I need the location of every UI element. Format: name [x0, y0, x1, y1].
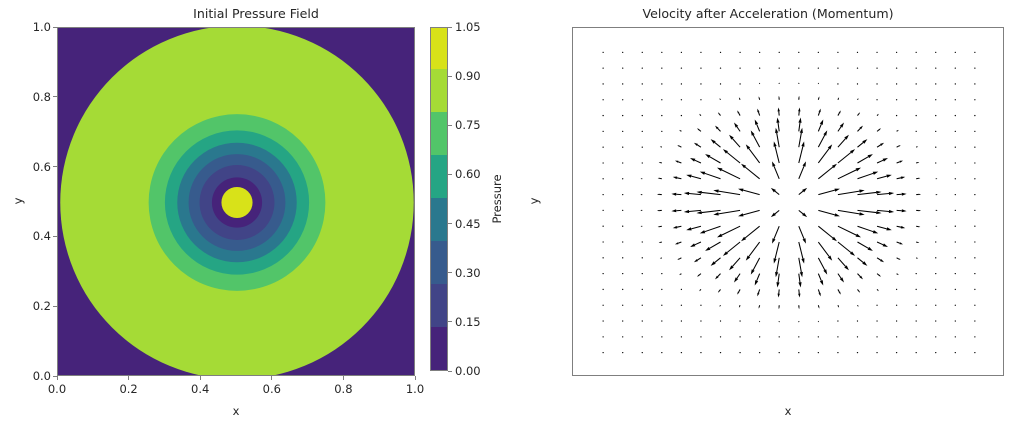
quiver-arrow-shaft: [679, 146, 681, 147]
quiver-arrow-dot: [818, 67, 819, 68]
quiver-arrow-dot: [916, 289, 917, 290]
quiver-arrow-shaft: [689, 210, 701, 211]
quiver-arrow-head: [775, 128, 778, 133]
quiver-arrow-shaft: [719, 289, 720, 291]
quiver-arrow-shaft: [857, 114, 858, 116]
quiver-arrow-head: [640, 210, 641, 211]
quiver-arrow-head: [856, 234, 861, 238]
quiver-arrow-dot: [916, 352, 917, 353]
quiver-arrow-shaft: [897, 162, 900, 163]
quiver-arrow-shaft: [877, 130, 879, 132]
quiver-arrow-dot: [622, 226, 623, 227]
quiver-arrow-dot: [896, 83, 897, 84]
quiver-arrow-shaft: [759, 98, 760, 100]
quiver-arrow-shaft: [774, 226, 779, 239]
quiver-arrow-head: [886, 227, 891, 230]
quiver-arrow-head: [820, 280, 823, 285]
quiver-arrow-dot: [818, 352, 819, 353]
quiver-arrow-dot: [622, 241, 623, 242]
quiver-arrow-dot: [974, 131, 975, 132]
quiver-arrow-head: [902, 209, 907, 212]
quiver-arrow-shaft: [778, 123, 779, 132]
quiver-arrow-dot: [857, 67, 858, 68]
quiver-arrow-shaft: [799, 258, 802, 272]
quiver-arrow-dot: [896, 352, 897, 353]
quiver-arrow-head: [696, 211, 701, 214]
quiver-arrow-dot: [661, 320, 662, 321]
quiver-arrow-shaft: [838, 305, 839, 306]
quiver-arrow-dot: [837, 336, 838, 337]
quiver-arrow-head: [889, 210, 894, 213]
quiver-arrow-shaft: [838, 289, 840, 292]
quiver-arrow-shaft: [838, 139, 846, 148]
quiver-arrow-shaft: [877, 242, 883, 245]
right-plot-area: [572, 27, 1004, 376]
colorbar-tick-label: 0.90: [455, 69, 481, 83]
quiver-arrow-head: [834, 189, 839, 192]
quiver-arrow-shaft: [877, 210, 889, 211]
quiver-arrow-shaft: [857, 192, 876, 194]
quiver-arrow-head: [759, 96, 760, 98]
quiver-arrow-head: [937, 178, 938, 179]
quiver-arrow-dot: [955, 273, 956, 274]
panel-velocity-after-acceleration: Velocity after Acceleration (Momentum) 0…: [512, 0, 1024, 427]
quiver-arrow-dot: [661, 336, 662, 337]
quiver-arrow-dot: [974, 83, 975, 84]
quiver-arrow-dot: [661, 273, 662, 274]
quiver-arrow-dot: [661, 305, 662, 306]
colorbar-band: [431, 27, 447, 69]
quiver-arrow-dot: [876, 320, 877, 321]
quiver-arrow-dot: [876, 67, 877, 68]
quiver-arrow-dot: [974, 241, 975, 242]
quiver-arrow-shaft: [897, 131, 898, 132]
quiver-arrow-dot: [896, 336, 897, 337]
quiver-arrow-dot: [857, 83, 858, 84]
quiver-arrow-head: [776, 282, 779, 287]
quiver-arrow-dot: [935, 115, 936, 116]
quiver-arrow-shaft: [710, 242, 721, 248]
quiver-arrow-dot: [876, 352, 877, 353]
quiver-arrow-head: [868, 247, 873, 251]
quiver-arrow-head: [751, 130, 755, 135]
quiver-arrow-shaft: [775, 210, 779, 214]
quiver-arrow-dot: [602, 210, 603, 211]
quiver-arrow-head: [859, 212, 864, 215]
quiver-arrow-shaft: [897, 178, 901, 179]
quiver-arrow-dot: [700, 305, 701, 306]
quiver-arrow-dot: [739, 320, 740, 321]
quiver-arrow-dot: [622, 178, 623, 179]
quiver-arrow-dot: [622, 147, 623, 148]
quiver-arrow-shaft: [718, 128, 721, 131]
colorbar-band: [431, 69, 447, 112]
colorbar-tick-label: 0.60: [455, 167, 481, 181]
quiver-arrow-shaft: [759, 305, 760, 307]
quiver-arrow-dot: [622, 83, 623, 84]
quiver-arrow-head: [798, 96, 799, 98]
quiver-arrow-shaft: [818, 98, 819, 100]
quiver-arrow-dot: [661, 352, 662, 353]
quiver-arrow-group: [602, 52, 975, 354]
quiver-arrow-shaft: [689, 194, 701, 195]
quiver-arrow-head: [772, 238, 775, 243]
quiver-arrow-dot: [935, 52, 936, 53]
quiver-arrow-head: [772, 161, 775, 166]
quiver-arrow-dot: [622, 67, 623, 68]
quiver-arrow-head: [713, 190, 718, 193]
quiver-arrow-dot: [896, 52, 897, 53]
quiver-arrow-dot: [759, 352, 760, 353]
quiver-arrow-head: [778, 293, 780, 297]
quiver-arrow-shaft: [818, 226, 833, 238]
quiver-arrow-shaft: [715, 258, 721, 263]
quiver-arrow-dot: [642, 257, 643, 258]
quiver-arrow-dot: [955, 305, 956, 306]
quiver-arrow-head: [834, 213, 839, 216]
quiver-arrow-dot: [955, 52, 956, 53]
quiver-arrow-shaft: [702, 210, 721, 212]
quiver-arrow-head: [801, 258, 804, 263]
quiver-arrow-dot: [935, 83, 936, 84]
quiver-arrow-dot: [974, 289, 975, 290]
quiver-arrow-dot: [700, 336, 701, 337]
quiver-arrow-shaft: [818, 112, 819, 116]
quiver-arrow-shaft: [691, 176, 701, 179]
quiver-arrow-dot: [955, 352, 956, 353]
quiver-arrow-shaft: [838, 258, 846, 267]
quiver-arrow-dot: [642, 115, 643, 116]
quiver-arrow-dot: [622, 194, 623, 195]
quiver-arrow-head: [803, 238, 806, 243]
quiver-arrow-dot: [955, 320, 956, 321]
quiver-arrow-dot: [896, 289, 897, 290]
quiver-arrow-shaft: [739, 289, 741, 292]
quiver-arrow-head: [690, 243, 695, 247]
quiver-arrow-head: [803, 161, 806, 166]
quiver-arrow-head: [798, 293, 800, 297]
quiver-arrow-dot: [896, 320, 897, 321]
right-xaxis-label: x: [785, 404, 792, 418]
quiver-arrow-shaft: [737, 127, 740, 132]
quiver-arrow-dot: [837, 83, 838, 84]
quiver-arrow-dot: [622, 162, 623, 163]
colorbar-tick-label: 0.75: [455, 118, 481, 132]
quiver-arrow-shaft: [718, 274, 721, 277]
quiver-arrow-head: [819, 109, 821, 113]
quiver-arrow-dot: [955, 210, 956, 211]
quiver-arrow-head: [919, 210, 921, 211]
quiver-arrow-shaft: [838, 191, 860, 194]
quiver-arrow-dot: [602, 67, 603, 68]
quiver-arrow-shaft: [799, 274, 800, 283]
quiver-arrow-dot: [876, 336, 877, 337]
quiver-arrow-shaft: [680, 131, 681, 132]
quiver-arrow-shaft: [777, 258, 780, 272]
quiver-arrow-head: [918, 242, 920, 243]
quiver-arrow-dot: [681, 115, 682, 116]
quiver-arrow-shaft: [680, 274, 681, 275]
colorbar-band: [431, 112, 447, 155]
colorbar-band: [431, 284, 447, 327]
quiver-arrow-dot: [955, 83, 956, 84]
quiver-arrow-shaft: [733, 258, 741, 267]
quiver-arrow-dot: [642, 99, 643, 100]
quiver-arrow-shaft: [777, 133, 780, 147]
quiver-arrow-shaft: [758, 112, 759, 116]
quiver-arrow-shaft: [677, 226, 681, 227]
quiver-arrow-head: [751, 269, 755, 274]
quiver-arrow-shaft: [660, 242, 662, 243]
quiver-arrow-head: [738, 213, 743, 216]
quiver-arrow-dot: [700, 352, 701, 353]
quiver-arrow-shaft: [897, 258, 899, 259]
quiver-arrow-dot: [720, 352, 721, 353]
quiver-arrow-dot: [661, 83, 662, 84]
quiver-arrow-shaft: [838, 226, 856, 235]
quiver-arrow-shaft: [799, 191, 803, 195]
quiver-arrow-dot: [602, 115, 603, 116]
quiver-arrow-dot: [739, 52, 740, 53]
quiver-arrow-head: [937, 226, 938, 227]
quiver-arrow-dot: [622, 210, 623, 211]
quiver-arrow-shaft: [739, 305, 740, 306]
quiver-arrow-dot: [622, 99, 623, 100]
quiver-arrow-shaft: [916, 242, 918, 243]
quiver-arrow-dot: [955, 336, 956, 337]
quiver-arrow-head: [889, 192, 894, 195]
quiver-arrow-head: [778, 108, 780, 112]
quiver-arrow-head: [717, 234, 722, 238]
quiver-arrow-dot: [759, 52, 760, 53]
quiver-arrow-shaft: [678, 242, 681, 243]
quiver-arrow-head: [937, 194, 938, 195]
quiver-arrow-head: [684, 192, 689, 195]
quiver-arrow-shaft: [722, 226, 740, 235]
colorbar-band: [431, 327, 447, 370]
quiver-arrow-shaft: [799, 146, 803, 163]
quiver-arrow-head: [757, 293, 759, 297]
quiver-arrow-shaft: [745, 226, 760, 238]
quiver-arrow-head: [641, 178, 642, 179]
quiver-arrow-head: [657, 210, 659, 211]
quiver-arrow-dot: [916, 67, 917, 68]
quiver-arrow-head: [657, 194, 659, 195]
quiver-arrow-dot: [935, 162, 936, 163]
quiver-arrow-head: [717, 168, 722, 172]
quiver-arrow-shaft: [757, 124, 760, 131]
quiver-arrow-head: [918, 226, 920, 227]
quiver-arrow-shaft: [818, 289, 819, 293]
quiver-arrow-dot: [602, 257, 603, 258]
quiver-arrow-dot: [955, 99, 956, 100]
quiver-arrow-head: [937, 210, 938, 211]
quiver-arrow-dot: [818, 52, 819, 53]
quiver-arrow-shaft: [727, 152, 740, 163]
quiver-arrow-shaft: [697, 145, 701, 147]
quiver-arrow-head: [801, 141, 804, 146]
quiver-arrow-dot: [642, 67, 643, 68]
quiver-arrow-dot: [642, 83, 643, 84]
quiver-arrow-dot: [857, 320, 858, 321]
quiver-arrow-head: [738, 189, 743, 192]
quiver-arrow-dot: [720, 52, 721, 53]
quiver-arrow-dot: [974, 67, 975, 68]
quiver-arrow-shaft: [857, 289, 858, 291]
quiver-arrow-head: [883, 243, 888, 247]
quiver-arrow-dot: [818, 336, 819, 337]
quiver-arrow-dot: [974, 210, 975, 211]
quiver-arrow-shaft: [710, 157, 721, 163]
quiver-arrow-shaft: [702, 192, 721, 194]
quiver-arrow-dot: [935, 336, 936, 337]
quiver-arrow-dot: [798, 336, 799, 337]
quiver-arrow-dot: [661, 67, 662, 68]
quiver-arrow-dot: [974, 178, 975, 179]
quiver-arrow-shaft: [877, 226, 887, 229]
quiver-arrow-dot: [602, 52, 603, 53]
quiver-arrow-shaft: [877, 194, 889, 195]
quiver-arrow-dot: [622, 352, 623, 353]
quiver-arrow-shaft: [818, 135, 824, 147]
quiver-arrow-head: [755, 119, 758, 124]
quiver-arrow-dot: [798, 352, 799, 353]
quiver-arrow-shaft: [877, 115, 878, 116]
quiver-arrow-dot: [916, 305, 917, 306]
quiver-arrow-shaft: [695, 160, 701, 163]
quiver-arrow-dot: [916, 83, 917, 84]
quiver-arrow-dot: [720, 67, 721, 68]
quiver-arrow-head: [876, 211, 881, 214]
quiver-arrow-dot: [916, 115, 917, 116]
quiver-arrow-dot: [974, 273, 975, 274]
quiver-arrow-head: [774, 141, 777, 146]
colorbar-tick-mark: [448, 76, 452, 77]
quiver-arrow-shaft: [838, 98, 839, 99]
quiver-arrow-dot: [602, 320, 603, 321]
colorbar-tick-mark: [448, 321, 452, 322]
quiver-arrow-shaft: [739, 98, 740, 99]
quiver-arrow-head: [774, 258, 777, 263]
quiver-arrow-shaft: [857, 99, 858, 100]
quiver-arrow-dot: [916, 99, 917, 100]
quiver-arrow-dot: [622, 320, 623, 321]
quiver-arrow-dot: [720, 320, 721, 321]
colorbar-tick-label: 0.45: [455, 217, 481, 231]
quiver-arrow-shaft: [818, 124, 821, 131]
quiver-arrow-shaft: [799, 210, 803, 214]
quiver-arrow-dot: [642, 147, 643, 148]
quiver-arrow-head: [901, 177, 905, 180]
quiver-arrow-head: [759, 307, 760, 309]
quiver-arrow-dot: [837, 320, 838, 321]
quiver-arrow-shaft: [838, 152, 851, 163]
quiver-arrow-head: [640, 194, 641, 195]
quiver-arrow-shaft: [715, 142, 721, 147]
quiver-arrow-dot: [916, 131, 917, 132]
quiver-arrow-dot: [974, 115, 975, 116]
colorbar-band: [431, 241, 447, 284]
quiver-arrow-shaft: [700, 115, 701, 116]
quiver-arrow-dot: [916, 273, 917, 274]
quiver-arrow-shaft: [838, 113, 840, 116]
quiver-arrow-dot: [955, 162, 956, 163]
quiver-arrow-dot: [974, 226, 975, 227]
quiver-arrow-dot: [681, 305, 682, 306]
quiver-arrow-head: [659, 162, 661, 163]
right-plot-title: Velocity after Acceleration (Momentum): [512, 6, 1024, 21]
quiver-arrow-dot: [759, 336, 760, 337]
quiver-arrow-head: [800, 272, 803, 277]
quiver-arrow-shaft: [691, 226, 701, 229]
quiver-arrow-head: [823, 130, 827, 135]
quiver-arrow-dot: [759, 67, 760, 68]
quiver-arrow-dot: [602, 194, 603, 195]
quiver-arrow-shaft: [753, 258, 759, 270]
colorbar-band: [431, 155, 447, 198]
quiver-arrow-head: [675, 242, 678, 244]
quiver-arrow-shaft: [857, 210, 876, 212]
quiver-arrow-head: [700, 172, 705, 175]
colorbar-tick-label: 1.05: [455, 20, 481, 34]
quiver-arrow-dot: [602, 162, 603, 163]
quiver-arrow-head: [686, 175, 691, 178]
quiver-arrow-dot: [974, 257, 975, 258]
quiver-arrow-shaft: [718, 191, 740, 194]
quiver-arrow-shaft: [700, 289, 701, 290]
colorbar-tick-mark: [448, 223, 452, 224]
quiver-arrow-dot: [661, 115, 662, 116]
quiver-arrow-shaft: [897, 226, 901, 227]
quiver-arrow-shaft: [857, 242, 868, 248]
quiver-arrow-head: [775, 272, 778, 277]
quiver-arrow-dot: [602, 131, 603, 132]
quiver-arrow-dot: [955, 147, 956, 148]
quiver-arrow-head: [641, 226, 642, 227]
quiver-arrow-dot: [779, 52, 780, 53]
quiver-arrow-dot: [622, 257, 623, 258]
quiver-arrow-dot: [622, 289, 623, 290]
quiver-arrow-shaft: [857, 258, 863, 263]
quiver-arrow-dot: [896, 305, 897, 306]
quiver-arrow-head: [883, 158, 888, 162]
quiver-arrow-dot: [700, 67, 701, 68]
quiver-arrow-shaft: [897, 242, 900, 243]
quiver-arrow-head: [755, 280, 758, 285]
quiver-arrow-dot: [720, 336, 721, 337]
colorbar-tick-mark: [448, 27, 452, 28]
quiver-arrow-shaft: [838, 170, 856, 179]
quiver-arrow-shaft: [660, 162, 662, 163]
quiver-arrow-head: [868, 154, 873, 158]
quiver-arrow-head: [900, 161, 903, 163]
quiver-arrow-dot: [779, 67, 780, 68]
quiver-arrow-shaft: [877, 258, 881, 260]
quiver-arrow-shaft: [818, 274, 821, 281]
quiver-arrow-dot: [739, 352, 740, 353]
quiver-arrow-shaft: [897, 146, 899, 147]
quiver-arrow-head: [684, 210, 689, 213]
quiver-arrow-dot: [739, 67, 740, 68]
quiver-arrow-head: [659, 242, 661, 243]
quiver-arrow-shaft: [743, 210, 760, 214]
quiver-arrow-dot: [661, 289, 662, 290]
quiver-arrow-shaft: [857, 305, 858, 306]
quiver-arrow-head: [778, 307, 779, 309]
quiver-arrow-dot: [916, 336, 917, 337]
quiver-arrow-shaft: [818, 305, 819, 307]
quiver-arrow-dot: [876, 99, 877, 100]
